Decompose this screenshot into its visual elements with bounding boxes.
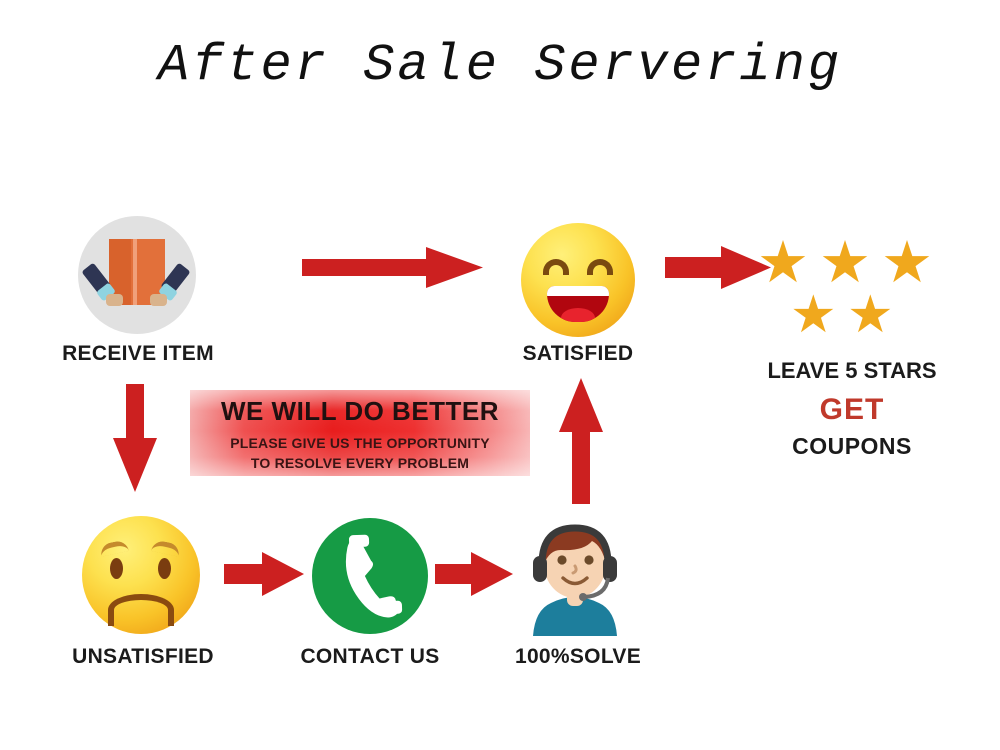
arrow-unsatisfied-to-contact <box>222 550 306 598</box>
arrow-receive-to-satisfied <box>300 245 485 290</box>
banner-headline: WE WILL DO BETTER <box>190 396 530 427</box>
headset-left-cup <box>533 556 547 582</box>
arrow-satisfied-to-stars <box>663 245 773 290</box>
left-eye-arc <box>543 259 569 275</box>
left-eyebrow <box>99 539 129 557</box>
right-eyebrow <box>151 539 181 557</box>
right-hand <box>150 294 167 306</box>
tongue <box>561 308 596 322</box>
stars-text-block: LEAVE 5 STARS GET COUPONS <box>742 358 962 460</box>
coupons-label: COUPONS <box>742 433 962 460</box>
left-eye <box>110 558 123 579</box>
receive-item-label: RECEIVE ITEM <box>38 342 238 366</box>
phone-handset-icon <box>312 518 428 634</box>
five-star-rating: ★ ★ ★ ★ ★ <box>757 234 947 344</box>
headset-mic <box>579 593 587 601</box>
banner-subline-1: PLEASE GIVE US THE OPPORTUNITY <box>190 435 530 451</box>
star-icon: ★ <box>847 289 894 341</box>
support-agent-icon <box>513 512 637 636</box>
after-sale-service-infographic: After Sale Servering RECEIVE ITEM SATISF… <box>0 0 1000 750</box>
right-eye <box>158 558 171 579</box>
arrow-receive-to-unsatisfied <box>104 382 166 494</box>
star-icon: ★ <box>790 289 837 341</box>
arrow-solve-to-satisfied <box>550 376 612 506</box>
open-smiling-mouth <box>547 286 609 322</box>
star-icon: ★ <box>881 234 933 292</box>
package-in-hands-icon <box>78 216 196 334</box>
phone-handset-glyph <box>312 518 428 634</box>
page-title: After Sale Servering <box>0 36 1000 95</box>
frowning-face-icon <box>82 516 200 634</box>
smiling-face-icon <box>521 223 635 337</box>
teeth <box>547 286 609 296</box>
headset-right-cup <box>603 556 617 582</box>
unsatisfied-label: UNSATISFIED <box>38 645 248 669</box>
leave-5-stars-label: LEAVE 5 STARS <box>742 358 962 384</box>
agent-left-eye <box>557 555 566 564</box>
agent-right-eye <box>584 555 593 564</box>
contact-us-label: CONTACT US <box>270 645 470 669</box>
frowning-mouth <box>108 594 174 626</box>
get-label: GET <box>742 393 962 427</box>
left-hand <box>106 294 123 306</box>
right-eye-arc <box>587 259 613 275</box>
banner-subline-2: TO RESOLVE EVERY PROBLEM <box>190 455 530 471</box>
solve-label: 100%SOLVE <box>478 645 678 669</box>
arrow-contact-to-solve <box>433 550 515 598</box>
satisfied-label: SATISFIED <box>478 342 678 366</box>
we-will-do-better-banner: WE WILL DO BETTER PLEASE GIVE US THE OPP… <box>190 390 530 476</box>
star-icon: ★ <box>819 234 871 292</box>
package-box-seam <box>133 239 137 305</box>
